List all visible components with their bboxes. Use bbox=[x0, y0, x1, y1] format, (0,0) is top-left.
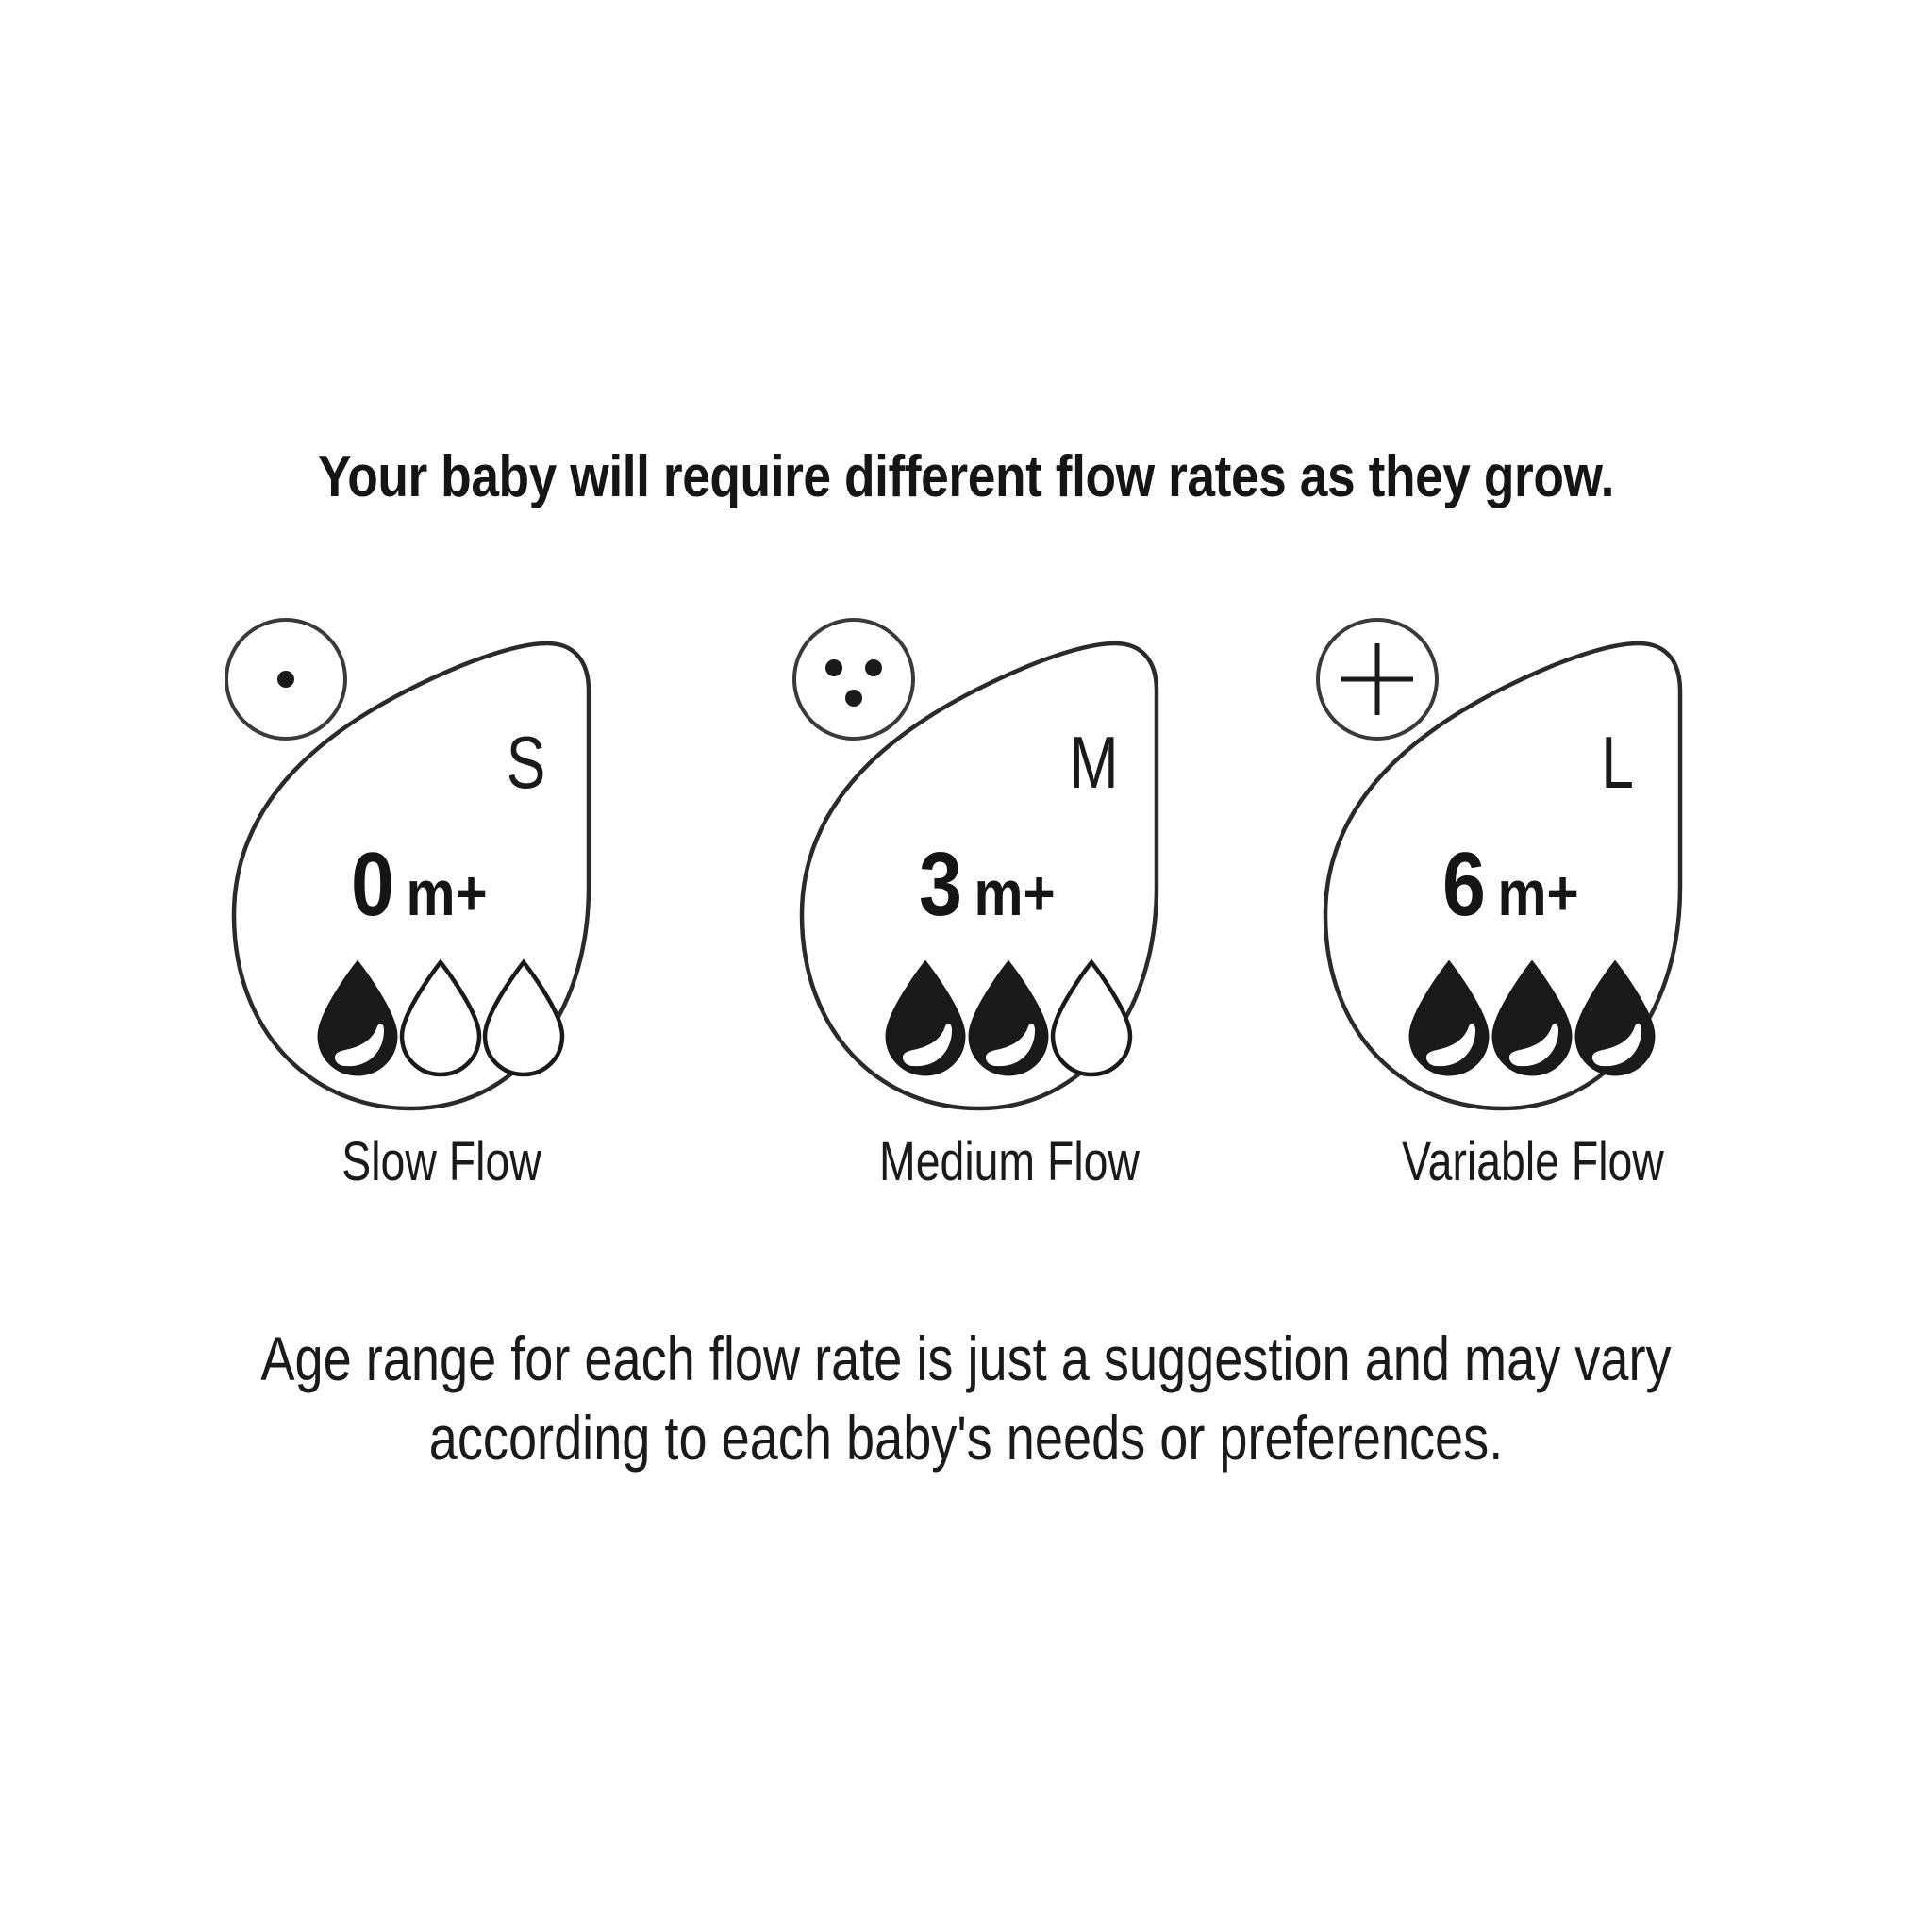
flow-rate-row: S 0 m+ bbox=[0, 604, 1932, 1264]
age-number-medium: 3 bbox=[919, 833, 962, 934]
flow-rate-card-slow[interactable]: S 0 m+ bbox=[177, 604, 706, 1264]
size-letter-variable: L bbox=[1601, 721, 1634, 803]
flow-rate-card-variable[interactable]: L 6 m+ bbox=[1269, 604, 1797, 1264]
one-dot-hole-icon bbox=[226, 620, 345, 739]
flow-label-medium: Medium Flow bbox=[798, 1130, 1221, 1193]
age-number-slow: 0 bbox=[351, 833, 394, 934]
three-dot-hole-icon bbox=[794, 620, 913, 739]
size-letter-slow: S bbox=[507, 721, 546, 803]
disclaimer-line-2: according to each baby's needs or prefer… bbox=[174, 1398, 1757, 1477]
size-letter-medium: M bbox=[1070, 721, 1119, 803]
age-suffix-variable: m+ bbox=[1498, 858, 1579, 929]
flow-rate-card-medium[interactable]: M 3 m+ bbox=[745, 604, 1274, 1264]
droplet-meter-slow bbox=[319, 962, 562, 1074]
flow-label-slow: Slow Flow bbox=[230, 1130, 653, 1193]
nipple-badge-medium: M 3 m+ bbox=[745, 604, 1274, 1132]
page-title: Your baby will require different flow ra… bbox=[135, 443, 1796, 510]
nipple-badge-slow: S 0 m+ bbox=[177, 604, 706, 1132]
disclaimer-line-1: Age range for each flow rate is just a s… bbox=[174, 1319, 1757, 1398]
footer-disclaimer: Age range for each flow rate is just a s… bbox=[0, 1319, 1932, 1478]
age-suffix-slow: m+ bbox=[407, 858, 488, 929]
nipple-badge-variable: L 6 m+ bbox=[1269, 604, 1797, 1132]
droplet-meter-medium bbox=[887, 962, 1130, 1074]
cross-slit-hole-icon bbox=[1318, 620, 1437, 739]
flow-label-variable: Variable Flow bbox=[1322, 1130, 1744, 1193]
age-suffix-medium: m+ bbox=[974, 858, 1056, 929]
droplet-meter-variable bbox=[1410, 962, 1654, 1074]
infographic-page: Your baby will require different flow ra… bbox=[0, 0, 1932, 1932]
age-number-variable: 6 bbox=[1442, 833, 1486, 934]
